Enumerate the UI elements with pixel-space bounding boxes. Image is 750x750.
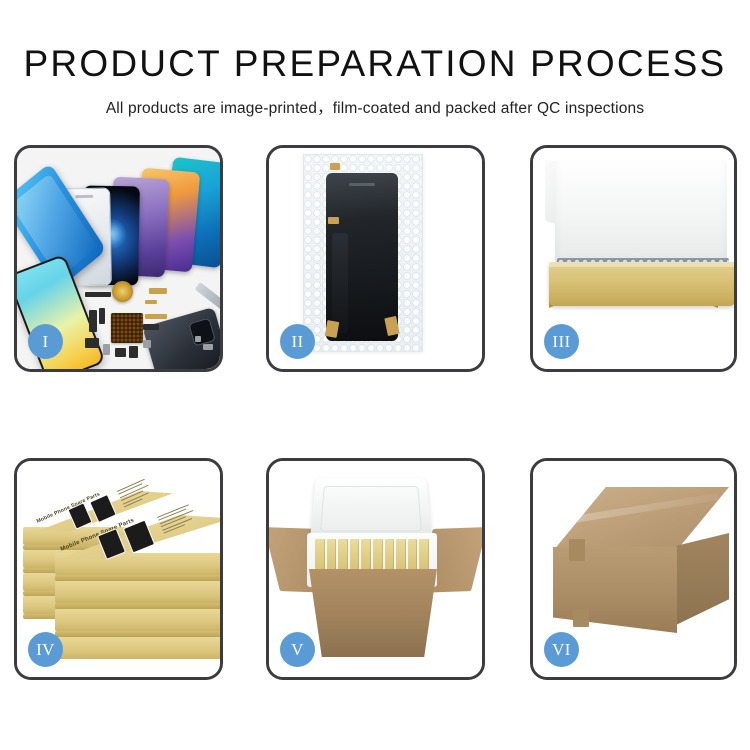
process-panel-6[interactable]: VI: [530, 458, 737, 680]
step-badge-3: III: [544, 324, 579, 359]
shipping-carton-open: [309, 569, 437, 657]
step-badge-2: II: [280, 324, 315, 359]
box-white-lid: [555, 160, 727, 268]
process-panel-grid: I II III: [0, 0, 750, 750]
step-badge-5: V: [280, 632, 315, 667]
process-panel-4[interactable]: Mobile Phone Spare Parts Mobile Phone Sp…: [14, 458, 223, 680]
process-panel-5[interactable]: V: [266, 458, 485, 680]
carton-tape-upper: [569, 539, 585, 561]
flex-cable: [332, 233, 348, 333]
process-panel-3[interactable]: III: [530, 145, 737, 372]
process-panel-2[interactable]: II: [266, 145, 485, 372]
bubble-wrap-bag: [303, 154, 423, 352]
styrofoam-lid: [310, 478, 432, 541]
carton-tape-lower: [573, 609, 589, 627]
process-panel-1[interactable]: I: [14, 145, 223, 372]
step-badge-1: I: [28, 324, 63, 359]
step-badge-4: IV: [28, 632, 63, 667]
step-badge-6: VI: [544, 632, 579, 667]
kraft-box-tray: [549, 262, 734, 306]
